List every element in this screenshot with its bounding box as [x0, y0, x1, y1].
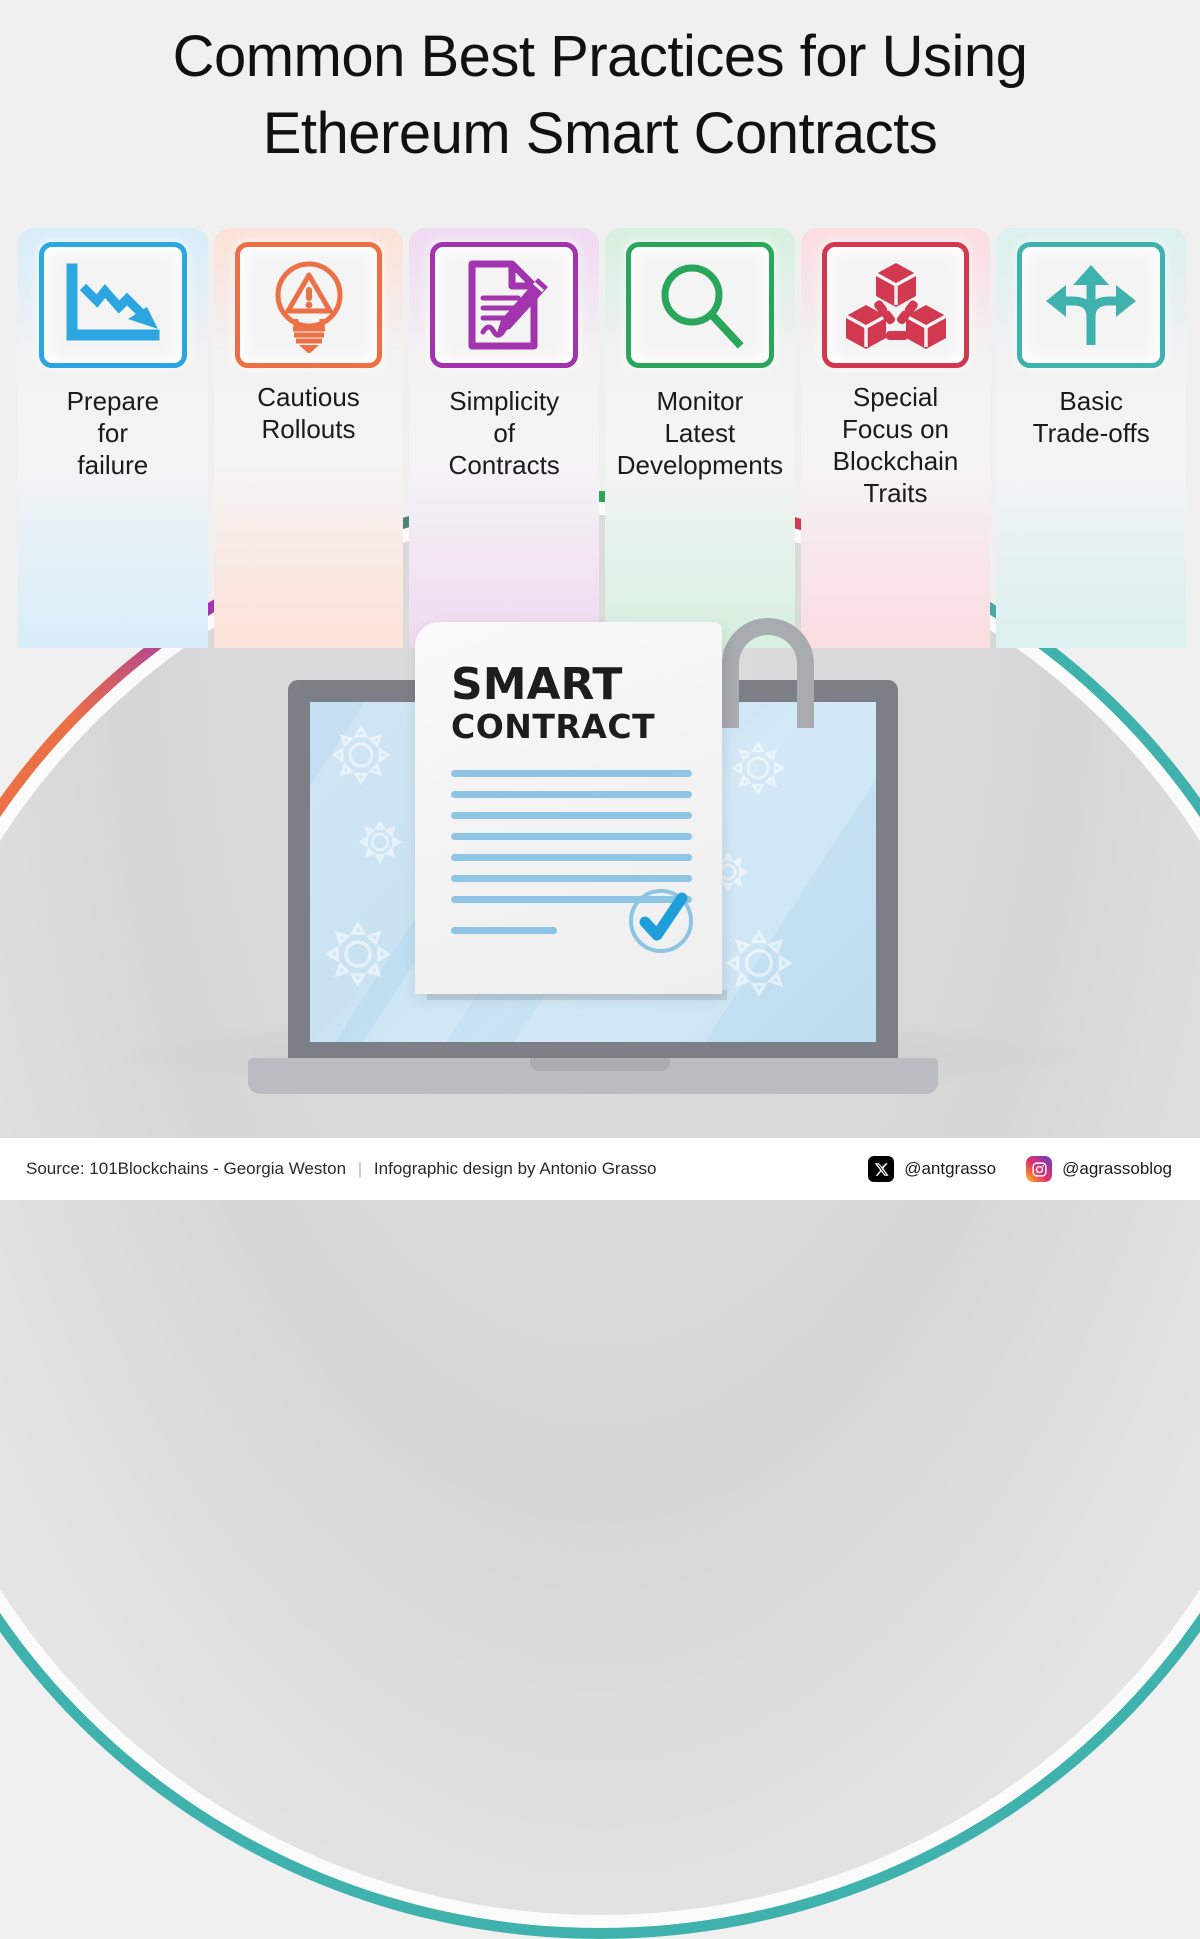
card-label: BasicTrade-offs — [1031, 386, 1152, 450]
blockchain-nodes-icon — [844, 259, 948, 351]
footer-bar: Source: 101Blockchains - Georgia Weston … — [0, 1138, 1200, 1200]
magnifier-icon — [654, 259, 746, 351]
social-handle-x: @antgrasso — [904, 1159, 996, 1179]
icon-frame — [626, 242, 774, 368]
contract-pen-icon — [456, 258, 552, 352]
document-line — [451, 812, 692, 819]
document-signature-line — [451, 927, 557, 934]
footer-separator: | — [351, 1159, 369, 1178]
card-prepare-for-failure[interactable]: Prepareforfailure — [18, 228, 208, 648]
laptop-notch — [530, 1058, 670, 1071]
document-title-line-1: SMART — [451, 664, 692, 706]
smart-contract-document: SMART CONTRACT — [415, 622, 722, 994]
social-links: @antgrasso @agrassoblog — [868, 1156, 1172, 1182]
practice-card-row: Prepareforfailure CautiousR — [18, 228, 1186, 648]
document-line — [451, 854, 692, 861]
card-label: SpecialFocus onBlockchainTraits — [831, 382, 961, 510]
card-label: Prepareforfailure — [65, 386, 162, 482]
page-title: Common Best Practices for Using Ethereum… — [0, 18, 1200, 172]
gear-outline-icon — [330, 724, 392, 786]
instagram-icon — [1026, 1156, 1052, 1182]
gear-outline-icon — [730, 740, 786, 796]
social-link-instagram[interactable]: @agrassoblog — [1026, 1156, 1172, 1182]
card-basic-trade-offs[interactable]: BasicTrade-offs — [996, 228, 1186, 648]
warning-lightbulb-icon — [266, 257, 352, 353]
blue-checkmark-circle-icon — [626, 886, 696, 956]
card-label: SimplicityofContracts — [447, 386, 562, 482]
document-line — [451, 833, 692, 840]
icon-frame — [1017, 242, 1165, 368]
footer-source-text: Source: 101Blockchains - Georgia Weston — [26, 1159, 346, 1178]
page-title-line-2: Ethereum Smart Contracts — [0, 95, 1200, 172]
card-label: CautiousRollouts — [255, 382, 362, 446]
footer-design-credit: Infographic design by Antonio Grasso — [374, 1159, 657, 1178]
card-cautious-rollouts[interactable]: CautiousRollouts — [214, 228, 404, 648]
gear-outline-icon — [324, 920, 392, 988]
page-title-line-1: Common Best Practices for Using — [0, 18, 1200, 95]
x-twitter-icon — [868, 1156, 894, 1182]
card-simplicity-of-contracts[interactable]: SimplicityofContracts — [409, 228, 599, 648]
paper-clip-icon — [722, 618, 814, 728]
gear-outline-icon — [358, 820, 402, 864]
card-monitor-latest-developments[interactable]: MonitorLatestDevelopments — [605, 228, 795, 648]
gear-outline-icon — [724, 928, 794, 998]
document-line — [451, 770, 692, 777]
document-line — [451, 875, 692, 882]
icon-frame — [430, 242, 578, 368]
document-line — [451, 791, 692, 798]
social-link-x[interactable]: @antgrasso — [868, 1156, 996, 1182]
icon-frame — [235, 242, 383, 368]
document-title-line-2: CONTRACT — [451, 710, 692, 745]
icon-frame — [822, 242, 970, 368]
card-special-focus-on-blockchain-traits[interactable]: SpecialFocus onBlockchainTraits — [801, 228, 991, 648]
footer-credit: Source: 101Blockchains - Georgia Weston … — [26, 1159, 657, 1179]
smart-contract-illustration: SMART CONTRACT — [0, 600, 1200, 1120]
social-handle-instagram: @agrassoblog — [1062, 1159, 1172, 1179]
three-way-arrow-icon — [1042, 261, 1140, 349]
declining-chart-icon — [61, 263, 165, 347]
icon-frame — [39, 242, 187, 368]
card-label: MonitorLatestDevelopments — [615, 386, 785, 482]
